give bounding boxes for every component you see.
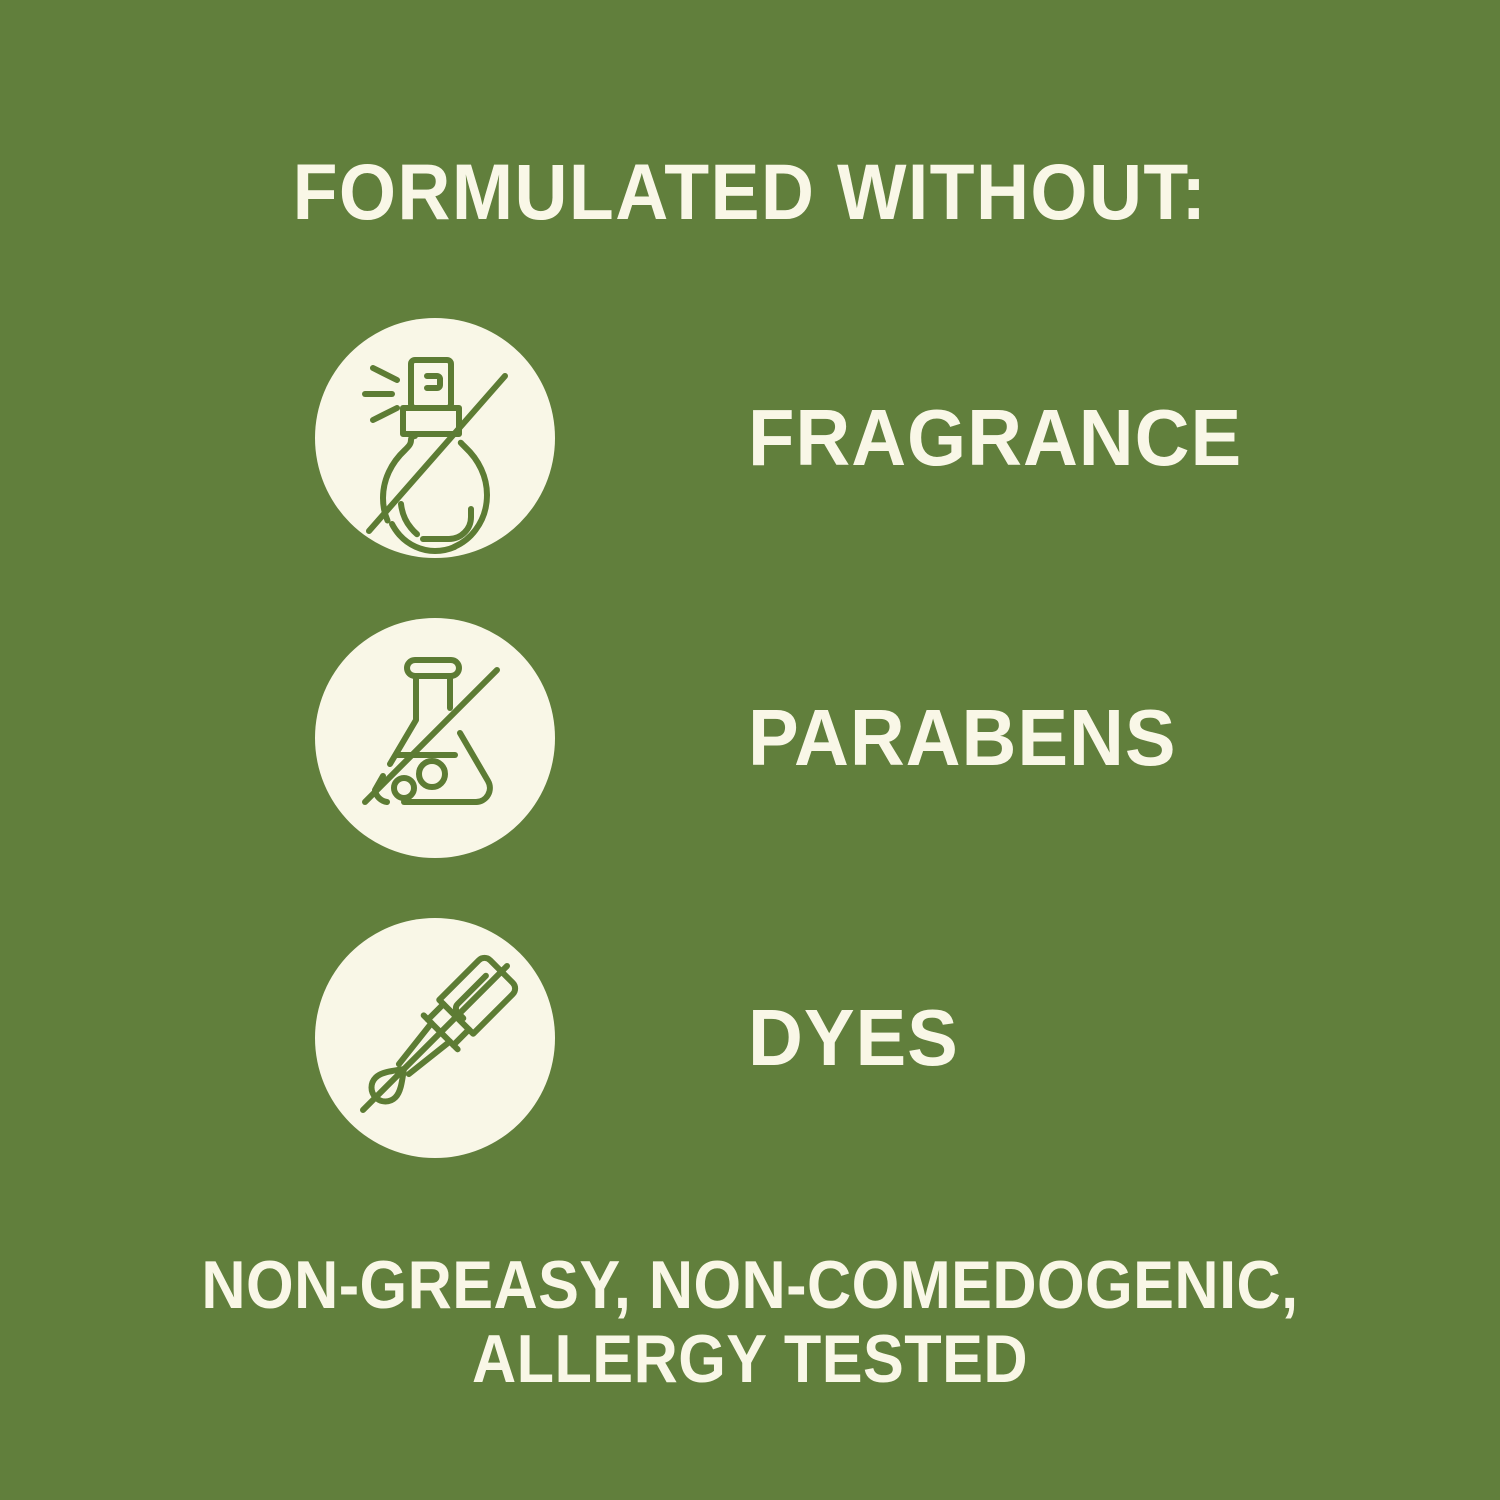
list-item-label: PARABENS: [748, 698, 1176, 778]
no-flask-icon: [315, 618, 555, 858]
footer-line-2: ALLERGY TESTED: [75, 1322, 1425, 1396]
list-item: PARABENS: [315, 618, 1415, 858]
list-item: FRAGRANCE: [315, 318, 1415, 558]
list-item-label: DYES: [748, 998, 959, 1078]
list-item: DYES: [315, 918, 1415, 1158]
formulated-without-card: FORMULATED WITHOUT:: [0, 0, 1500, 1500]
page-title: FORMULATED WITHOUT:: [53, 152, 1448, 231]
no-perfume-bottle-icon: [315, 318, 555, 558]
list-item-label: FRAGRANCE: [748, 398, 1242, 478]
footer-line-1: NON-GREASY, NON-COMEDOGENIC,: [75, 1248, 1425, 1322]
no-dropper-icon: [315, 918, 555, 1158]
footer-claims: NON-GREASY, NON-COMEDOGENIC, ALLERGY TES…: [0, 1248, 1500, 1396]
